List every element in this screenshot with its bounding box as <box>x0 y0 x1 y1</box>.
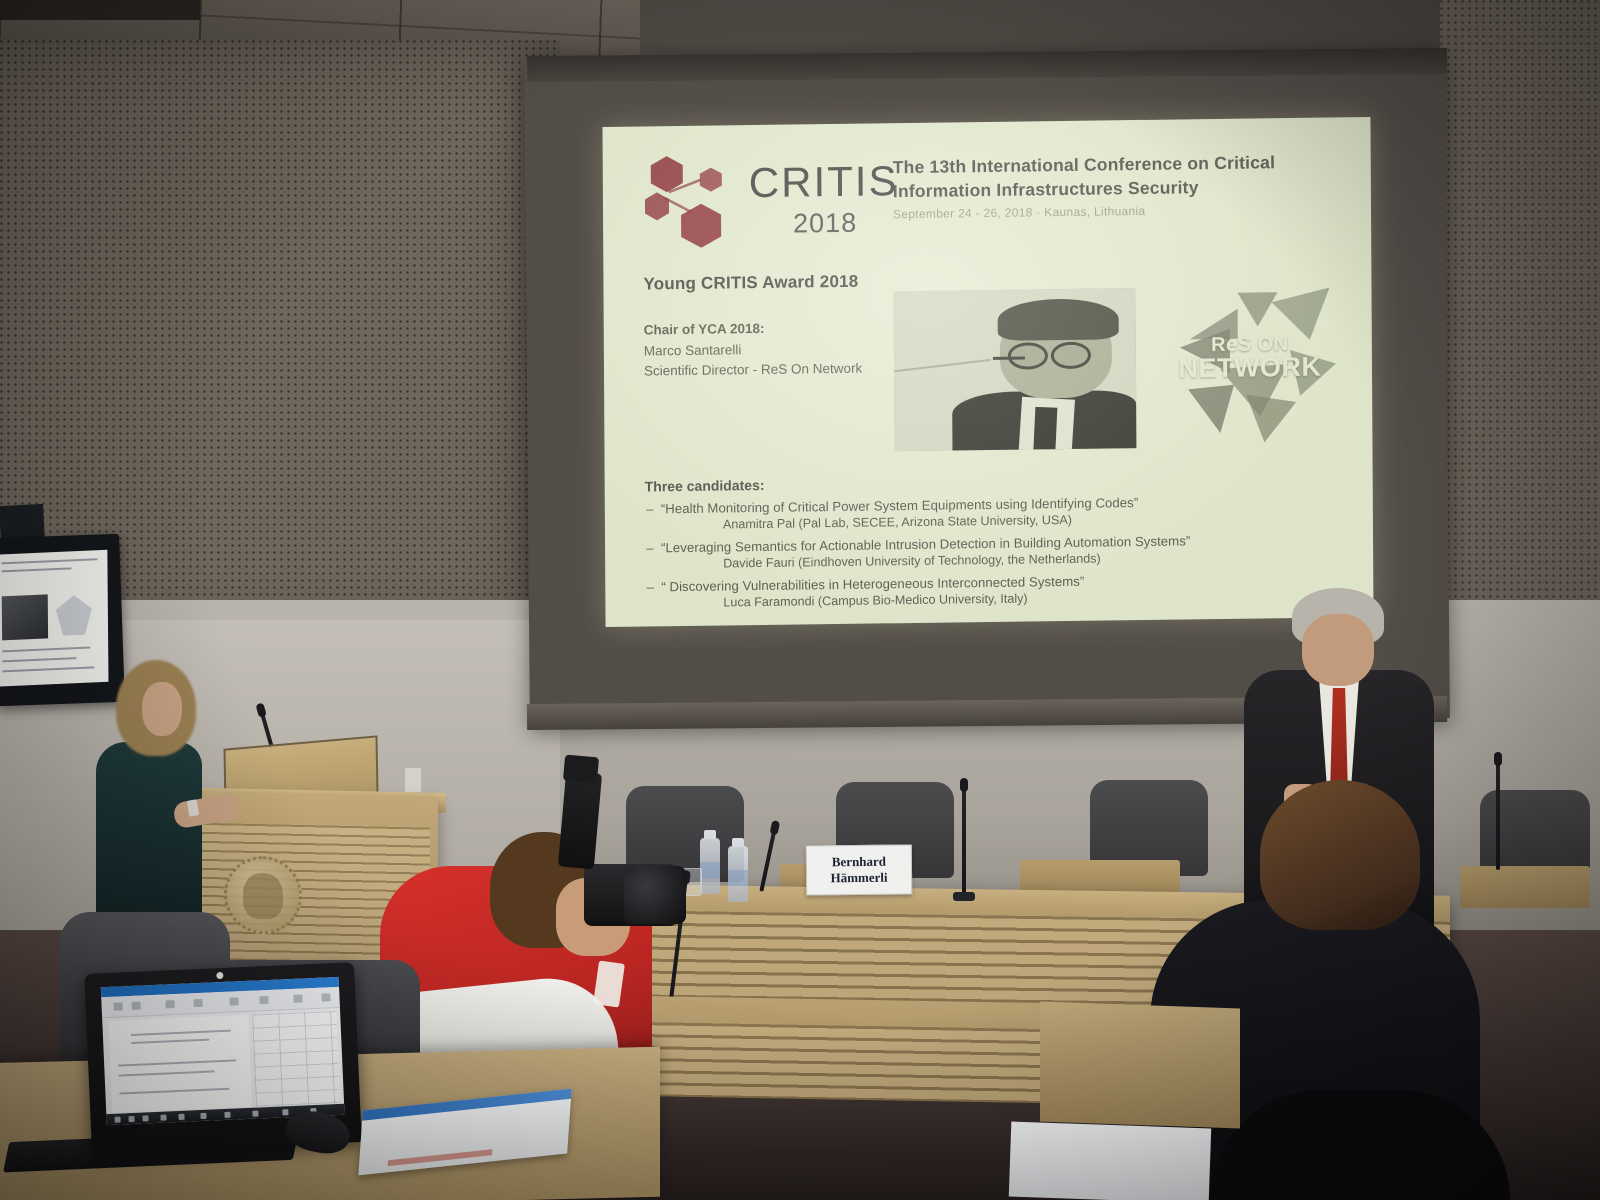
toolbar-icon[interactable] <box>165 1000 174 1008</box>
monitor-text-line <box>2 567 72 572</box>
conference-title: The 13th International Conference on Cri… <box>893 150 1313 204</box>
name-placard: Bernhard Hämmerli <box>806 844 913 895</box>
document-pane[interactable] <box>108 1015 252 1113</box>
table-microphone <box>962 786 966 894</box>
spreadsheet-grid[interactable] <box>252 1011 340 1107</box>
photographer <box>380 770 680 1080</box>
candidate-bullet: – <box>639 500 661 517</box>
res-network-text: ReS ON NETWORK <box>1159 267 1340 449</box>
toolbar-icon[interactable] <box>321 993 330 1001</box>
man-face <box>1302 614 1374 686</box>
taskbar-icon[interactable] <box>282 1109 288 1115</box>
acoustic-panel-right <box>1440 0 1600 640</box>
taskbar-icon[interactable] <box>114 1117 120 1123</box>
microphone-head <box>1494 752 1502 766</box>
candidates-list: – “Health Monitoring of Critical Power S… <box>639 491 1340 618</box>
portrait-figure <box>894 288 1137 451</box>
right-desk <box>1040 1002 1240 1129</box>
monitor-slide-photo <box>2 594 48 640</box>
bottle-label <box>700 862 720 878</box>
taskbar-icon[interactable] <box>128 1116 134 1122</box>
chair-portrait-photo <box>894 288 1137 451</box>
critis-wordmark: CRITIS <box>749 157 899 207</box>
attendee-head <box>1260 780 1420 930</box>
toolbar-icon[interactable] <box>293 994 302 1002</box>
camera-flash-head <box>563 755 599 784</box>
glasses-lens-right <box>1050 341 1091 368</box>
toolbar-icon[interactable] <box>131 1002 140 1010</box>
award-heading: Young CRITIS Award 2018 <box>643 272 858 295</box>
emblem-inner-figure <box>243 873 283 920</box>
candidate-bullet: – <box>639 539 661 556</box>
candidate-item: – “Health Monitoring of Critical Power S… <box>639 491 1339 534</box>
toolbar-icon[interactable] <box>113 1002 122 1010</box>
taskbar-icon[interactable] <box>252 1111 258 1117</box>
monitor-text-line <box>2 666 94 672</box>
portrait-tie <box>1034 407 1058 451</box>
taskbar-icon[interactable] <box>160 1115 166 1121</box>
candidate-item: – “Leveraging Semantics for Actionable I… <box>639 531 1339 574</box>
monitor-text-line <box>2 647 90 653</box>
chair-role: Scientific Director - ReS On Network <box>644 358 924 382</box>
candidate-bullet: – <box>639 579 661 596</box>
bottle-label <box>728 870 748 886</box>
university-emblem-icon <box>224 855 302 935</box>
toolbar-icon[interactable] <box>229 997 238 1005</box>
doc-text-line <box>131 1030 231 1036</box>
portrait-hair <box>998 298 1119 341</box>
ceiling-dark-panel <box>0 0 200 20</box>
toolbar-icon[interactable] <box>193 999 202 1007</box>
placard-last-name: Hämmerli <box>830 870 887 886</box>
portrait-glasses-icon <box>1008 341 1090 363</box>
projected-slide: CRITIS 2018 The 13th International Confe… <box>603 117 1374 627</box>
monitor-text-line <box>2 657 76 662</box>
microphone-head <box>960 778 968 792</box>
taskbar-icon[interactable] <box>142 1115 148 1121</box>
doc-text-line <box>119 1070 215 1076</box>
conference-date: September 24 - 26, 2018 · Kaunas, Lithua… <box>893 202 1313 221</box>
doc-text-line <box>119 1088 229 1095</box>
glasses-bridge <box>993 357 1024 360</box>
monitor-text-line <box>1 558 97 564</box>
network-label: NETWORK <box>1178 352 1321 385</box>
printed-documents <box>1009 1122 1211 1200</box>
candidate-item: – “ Discovering Vulnerabilities in Heter… <box>639 570 1339 613</box>
taskbar-icon[interactable] <box>178 1114 184 1120</box>
doc-text-line <box>131 1039 209 1044</box>
glasses-lens-left <box>1008 342 1049 369</box>
microphone-base <box>953 892 975 901</box>
camera-flash-icon <box>558 771 602 870</box>
bottle-cap <box>704 830 716 839</box>
laptop-screen[interactable] <box>101 977 345 1125</box>
placard-first-name: Bernhard <box>832 854 886 870</box>
candidates-heading: Three candidates: <box>645 477 765 495</box>
toolbar-icon[interactable] <box>259 996 268 1004</box>
monitor-slide-logo <box>56 594 92 636</box>
taskbar-icon[interactable] <box>224 1112 230 1118</box>
bottle-cap <box>732 838 744 847</box>
camera-lens-icon <box>624 866 686 924</box>
water-bottle <box>728 846 748 902</box>
water-bottle <box>700 838 720 894</box>
presenter-at-podium <box>92 660 202 950</box>
conference-room-photo: CRITIS 2018 The 13th International Confe… <box>0 0 1600 1200</box>
critis-hexagon-logo <box>639 151 760 251</box>
chair-block: Chair of YCA 2018: Marco Santarelli Scie… <box>644 317 924 382</box>
taskbar-icon[interactable] <box>200 1113 206 1119</box>
table-microphone <box>1496 760 1500 870</box>
doc-text-line <box>118 1059 236 1066</box>
critis-year: 2018 <box>793 208 857 240</box>
res-on-network-logo: ReS ON NETWORK <box>1159 267 1340 449</box>
presenter-face <box>142 682 182 736</box>
